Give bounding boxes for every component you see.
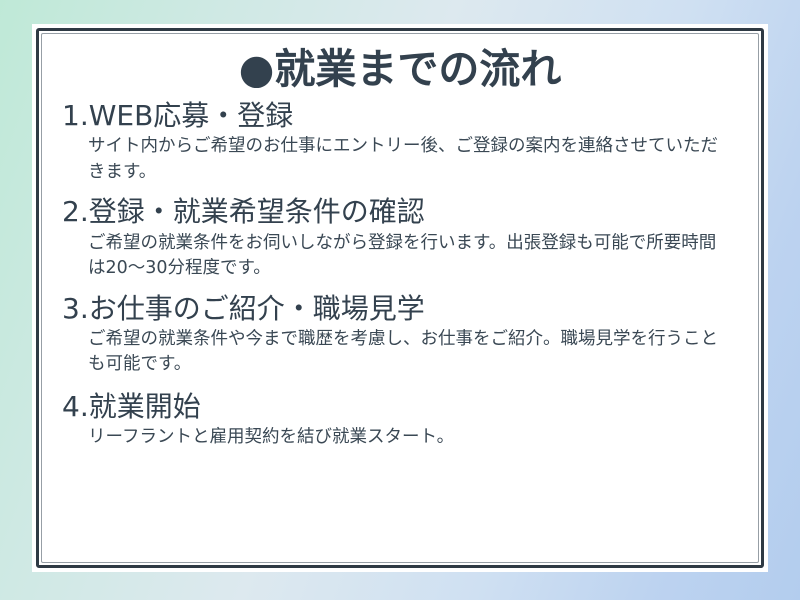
step-item: 1.WEB応募・登録 サイト内からご希望のお仕事にエントリー後、ご登録の案内を連… [62, 99, 738, 185]
slide-canvas: ●就業までの流れ 1.WEB応募・登録 サイト内からご希望のお仕事にエントリー後… [0, 0, 800, 600]
step-heading: 4.就業開始 [62, 390, 738, 424]
step-body: ご希望の就業条件をお伺いしながら登録を行います。出張登録も可能で所要時間は20〜… [88, 231, 738, 282]
step-body: ご希望の就業条件や今まで職歴を考慮し、お仕事をご紹介。職場見学を行うことも可能で… [88, 327, 738, 378]
step-body: リーフラントと雇用契約を結び就業スタート。 [88, 425, 738, 451]
step-item: 3.お仕事のご紹介・職場見学 ご希望の就業条件や今まで職歴を考慮し、お仕事をご紹… [62, 292, 738, 378]
step-heading: 3.お仕事のご紹介・職場見学 [62, 292, 738, 326]
step-heading: 2.登録・就業希望条件の確認 [62, 195, 738, 229]
step-item: 4.就業開始 リーフラントと雇用契約を結び就業スタート。 [62, 390, 738, 451]
step-item: 2.登録・就業希望条件の確認 ご希望の就業条件をお伺いしながら登録を行います。出… [62, 195, 738, 281]
step-heading: 1.WEB応募・登録 [62, 99, 738, 133]
card-content: ●就業までの流れ 1.WEB応募・登録 サイト内からご希望のお仕事にエントリー後… [44, 32, 756, 564]
step-body: サイト内からご希望のお仕事にエントリー後、ご登録の案内を連絡させていただきます。 [88, 134, 738, 185]
page-title: ●就業までの流れ [62, 46, 738, 93]
